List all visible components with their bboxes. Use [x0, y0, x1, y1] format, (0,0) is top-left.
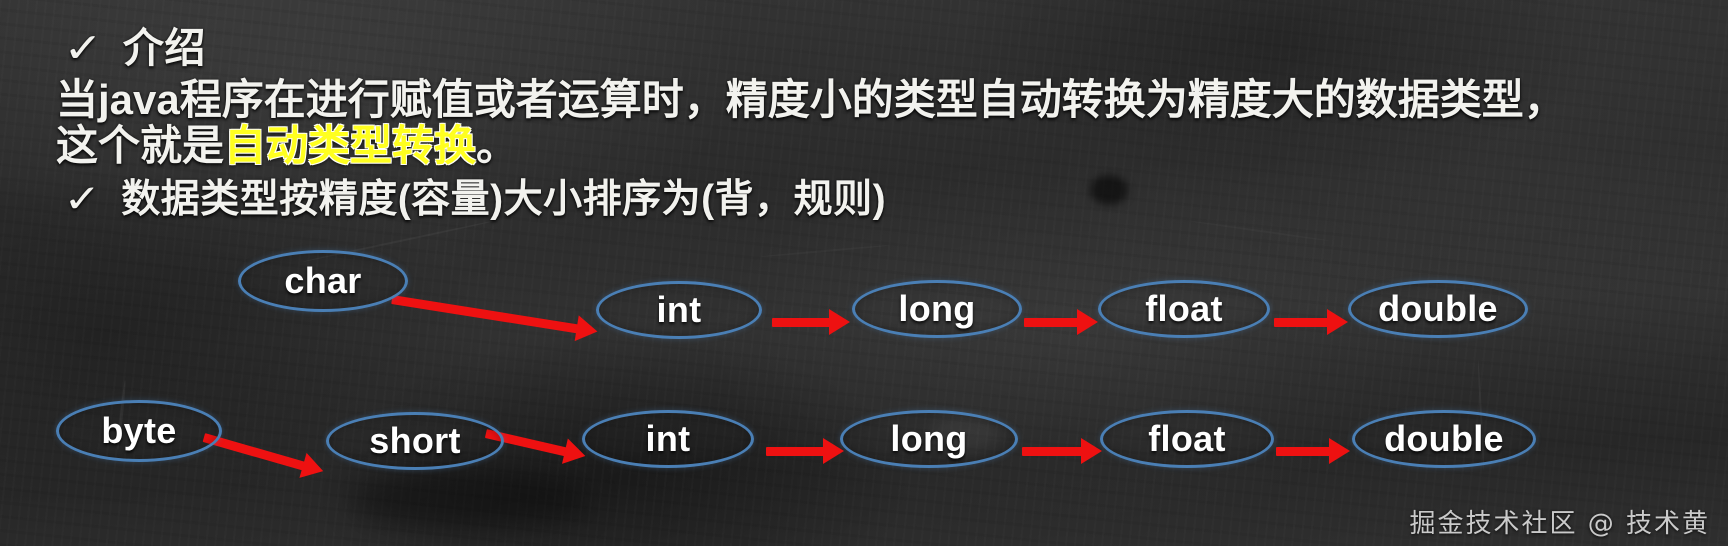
arrow-float-to-double	[1276, 438, 1348, 464]
node-short[interactable]: short	[326, 412, 504, 470]
node-int[interactable]: int	[582, 410, 754, 468]
node-byte[interactable]: byte	[56, 400, 222, 462]
node-label: float	[1148, 418, 1226, 460]
node-long[interactable]: long	[840, 410, 1018, 468]
node-label: int	[646, 418, 691, 460]
node-label: byte	[101, 410, 176, 452]
node-label: long	[890, 418, 967, 460]
arrow-long-to-float	[1022, 438, 1100, 464]
node-float[interactable]: float	[1100, 410, 1274, 468]
arrow-head	[1081, 438, 1102, 464]
arrow-head	[1329, 438, 1350, 464]
slide-canvas: ✓介绍 当java程序在进行赋值或者运算时，精度小的类型自动转换为精度大的数据类…	[0, 0, 1728, 546]
arrow-head	[299, 453, 326, 484]
node-label: double	[1384, 418, 1504, 460]
diagram-row-2: byteshortintlongfloatdouble	[0, 0, 1728, 546]
node-double[interactable]: double	[1352, 410, 1536, 468]
arrow-shaft	[766, 447, 826, 456]
node-label: short	[369, 420, 461, 462]
arrow-int-to-long	[766, 438, 842, 464]
arrow-shaft	[1022, 447, 1084, 456]
type-conversion-diagram: charintlongfloatdoublebyteshortintlongfl…	[0, 0, 1728, 546]
arrow-shaft	[1276, 447, 1332, 456]
